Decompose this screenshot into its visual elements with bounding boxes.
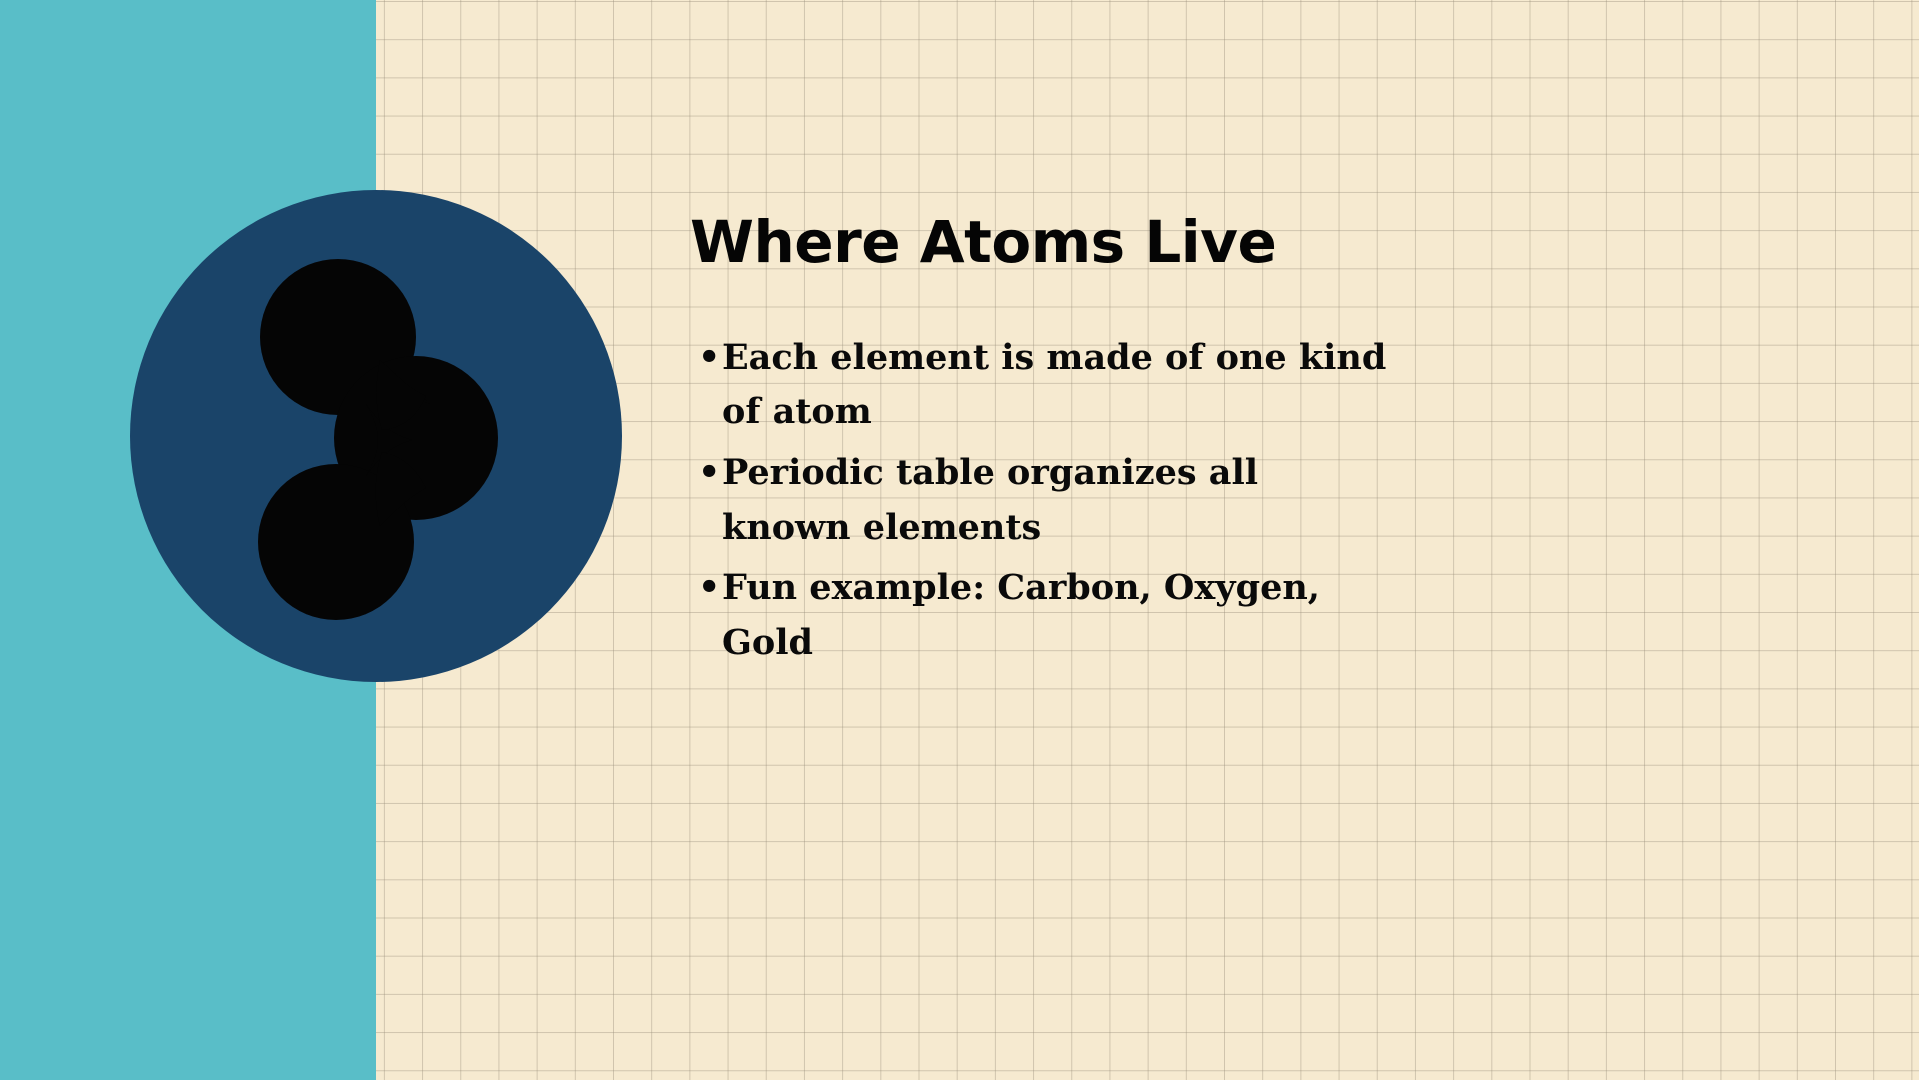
bullet-list: • Each element is made of one kind of at… — [690, 331, 1390, 671]
list-item: • Each element is made of one kind of at… — [690, 331, 1390, 440]
page-title: Where Atoms Live — [690, 212, 1850, 273]
list-item-text: Each element is made of one kind of atom — [722, 337, 1386, 433]
slide-canvas: Where Atoms Live • Each element is made … — [0, 0, 1919, 1080]
bullet-marker-icon: • — [698, 331, 720, 386]
list-item: • Fun example: Carbon, Oxygen, Gold — [690, 561, 1390, 670]
bullet-marker-icon: • — [698, 446, 720, 501]
list-item: • Periodic table organizes all known ele… — [690, 446, 1390, 555]
list-item-text: Fun example: Carbon, Oxygen, Gold — [722, 567, 1320, 663]
list-item-text: Periodic table organizes all known eleme… — [722, 452, 1258, 548]
bullet-marker-icon: • — [698, 561, 720, 616]
slide-content: Where Atoms Live • Each element is made … — [690, 212, 1850, 676]
molecule-illustration — [130, 190, 622, 682]
